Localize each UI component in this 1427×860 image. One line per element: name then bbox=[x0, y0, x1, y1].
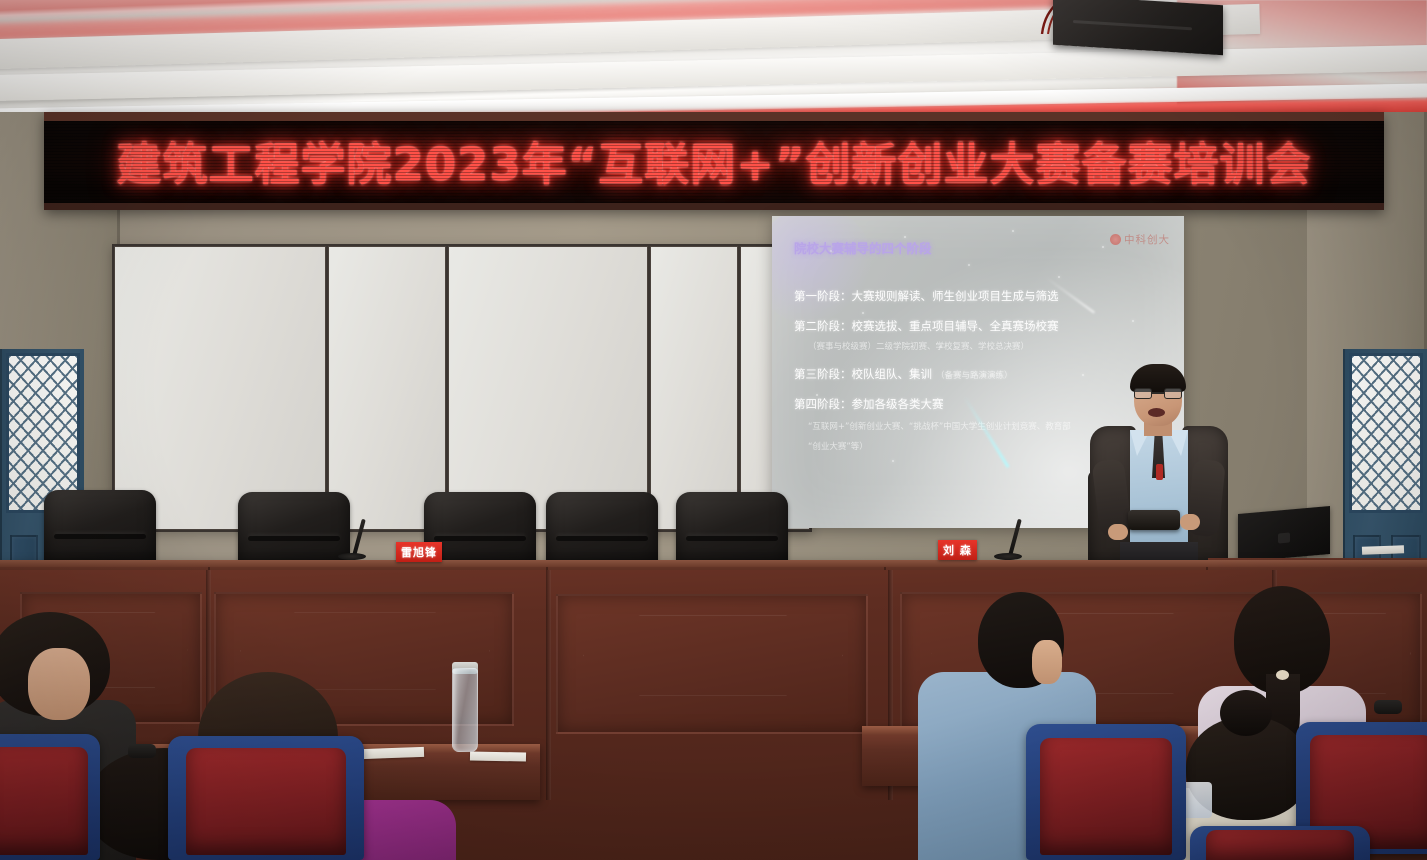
wood-wall-divider bbox=[546, 570, 551, 800]
slide-bullet-4-label: 第四阶段： bbox=[794, 397, 852, 411]
speaker-person bbox=[1086, 364, 1232, 564]
speaker-hand-left bbox=[1108, 524, 1128, 540]
paper-note bbox=[1362, 545, 1404, 554]
exec-chair[interactable] bbox=[44, 490, 156, 568]
auditorium-seat[interactable] bbox=[0, 734, 100, 860]
slide-bullet-1-content: 大赛规则解读、师生创业项目生成与筛选 bbox=[852, 289, 1059, 303]
nameplate-text: 刘 森 bbox=[943, 542, 972, 558]
slide-bullet-2-content: 校赛选拔、重点项目辅导、全真赛场校赛 bbox=[852, 319, 1059, 333]
audience-ear-cheek bbox=[1032, 640, 1062, 684]
slide-bullet-3-content: 校队组队、集训 bbox=[852, 367, 933, 381]
stage-table-top-edge bbox=[0, 560, 1427, 567]
auditorium-seat[interactable] bbox=[168, 736, 364, 860]
glasses-lens-right bbox=[1164, 388, 1182, 399]
whiteboard-panel bbox=[114, 246, 326, 530]
led-banner-text: 建筑工程学院2023年“互联网+”创新创业大赛备赛培训会 bbox=[44, 128, 1384, 193]
door-window-right bbox=[1349, 353, 1423, 513]
speaker-mouth bbox=[1148, 408, 1165, 417]
slide-subnote-2: “互联网+”创新创业大赛、“挑战杯”中国大学生创业计划竞赛、教育部 bbox=[808, 420, 1071, 432]
glasses-icon bbox=[1134, 388, 1182, 399]
whiteboard-panels bbox=[112, 244, 812, 532]
auditorium-seat[interactable] bbox=[1190, 826, 1370, 860]
ceiling bbox=[0, 0, 1427, 122]
presenter-remote-device[interactable] bbox=[1128, 510, 1180, 530]
seat-cushion bbox=[1040, 738, 1171, 855]
ceiling-speaker-box bbox=[1053, 0, 1223, 55]
audience-face-profile bbox=[28, 648, 90, 720]
slide-bullet-1-label: 第一阶段： bbox=[794, 289, 852, 303]
exec-chair[interactable] bbox=[676, 492, 788, 570]
speaker-lanyard-icon bbox=[1156, 464, 1163, 480]
lattice-grille-icon bbox=[1352, 356, 1420, 510]
slide-logo: 中科创大 bbox=[1110, 232, 1170, 247]
seat-cushion bbox=[1206, 830, 1354, 860]
hair-bun bbox=[1220, 690, 1272, 736]
nameplate: 刘 森 bbox=[938, 540, 977, 560]
wood-wall-panel bbox=[556, 594, 868, 734]
slide-bullet-3-label: 第三阶段： bbox=[794, 367, 852, 381]
laptop[interactable] bbox=[1238, 506, 1330, 562]
conference-room-photo: 建筑工程学院2023年“互联网+”创新创业大赛备赛培训会 院校大赛辅导的四个阶段 bbox=[0, 0, 1427, 860]
slide-logo-text: 中科创大 bbox=[1124, 232, 1170, 247]
face-mask bbox=[1182, 782, 1212, 818]
slide-bullet-4: 第四阶段：参加各级各类大赛 bbox=[794, 396, 944, 412]
slide-subnote-1: （赛事与校级赛）二级学院初赛、学校复赛、学校总决赛） bbox=[808, 340, 1029, 352]
slide-subnote-3: “创业大赛”等） bbox=[808, 440, 868, 452]
seat-armrest bbox=[1374, 700, 1402, 714]
paper-sheet bbox=[470, 752, 526, 762]
slide-bullet-3: 第三阶段：校队组队、集训（备赛与路演演练） bbox=[794, 366, 1013, 382]
exec-chair[interactable] bbox=[546, 492, 658, 570]
seat-cushion bbox=[186, 748, 347, 855]
slide-bullet-1: 第一阶段：大赛规则解读、师生创业项目生成与筛选 bbox=[794, 288, 1059, 304]
slide-bullet-3-note: （备赛与路演演练） bbox=[936, 371, 1013, 381]
nameplate-text: 雷旭锋 bbox=[401, 544, 437, 560]
seat-armrest bbox=[128, 744, 156, 758]
led-banner: 建筑工程学院2023年“互联网+”创新创业大赛备赛培训会 bbox=[44, 112, 1384, 210]
hair-tie bbox=[1276, 670, 1289, 680]
lattice-grille-icon bbox=[9, 356, 77, 510]
glasses-lens-left bbox=[1134, 388, 1152, 399]
water-bottle[interactable] bbox=[452, 668, 478, 752]
desk-microphone-base bbox=[994, 553, 1022, 560]
nameplate: 雷旭锋 bbox=[396, 542, 442, 562]
speaker-hand-right bbox=[1180, 514, 1200, 530]
seat-cushion bbox=[0, 747, 88, 855]
glasses-bridge bbox=[1152, 392, 1164, 394]
exec-chair[interactable] bbox=[238, 492, 350, 570]
whiteboard-panel bbox=[448, 246, 648, 530]
whiteboard-panel bbox=[650, 246, 738, 530]
desk-microphone-base bbox=[338, 553, 366, 560]
door-window-left bbox=[6, 353, 80, 513]
slide-bullet-4-content: 参加各级各类大赛 bbox=[852, 397, 944, 411]
slide-title: 院校大赛辅导的四个阶段 bbox=[794, 238, 932, 257]
slide-bullet-2-label: 第二阶段： bbox=[794, 319, 852, 333]
auditorium-seat[interactable] bbox=[1026, 724, 1186, 860]
slide-bullet-2: 第二阶段：校赛选拔、重点项目辅导、全真赛场校赛 bbox=[794, 318, 1059, 334]
whiteboard-panel bbox=[328, 246, 446, 530]
slide-logo-mark-icon bbox=[1110, 234, 1121, 245]
